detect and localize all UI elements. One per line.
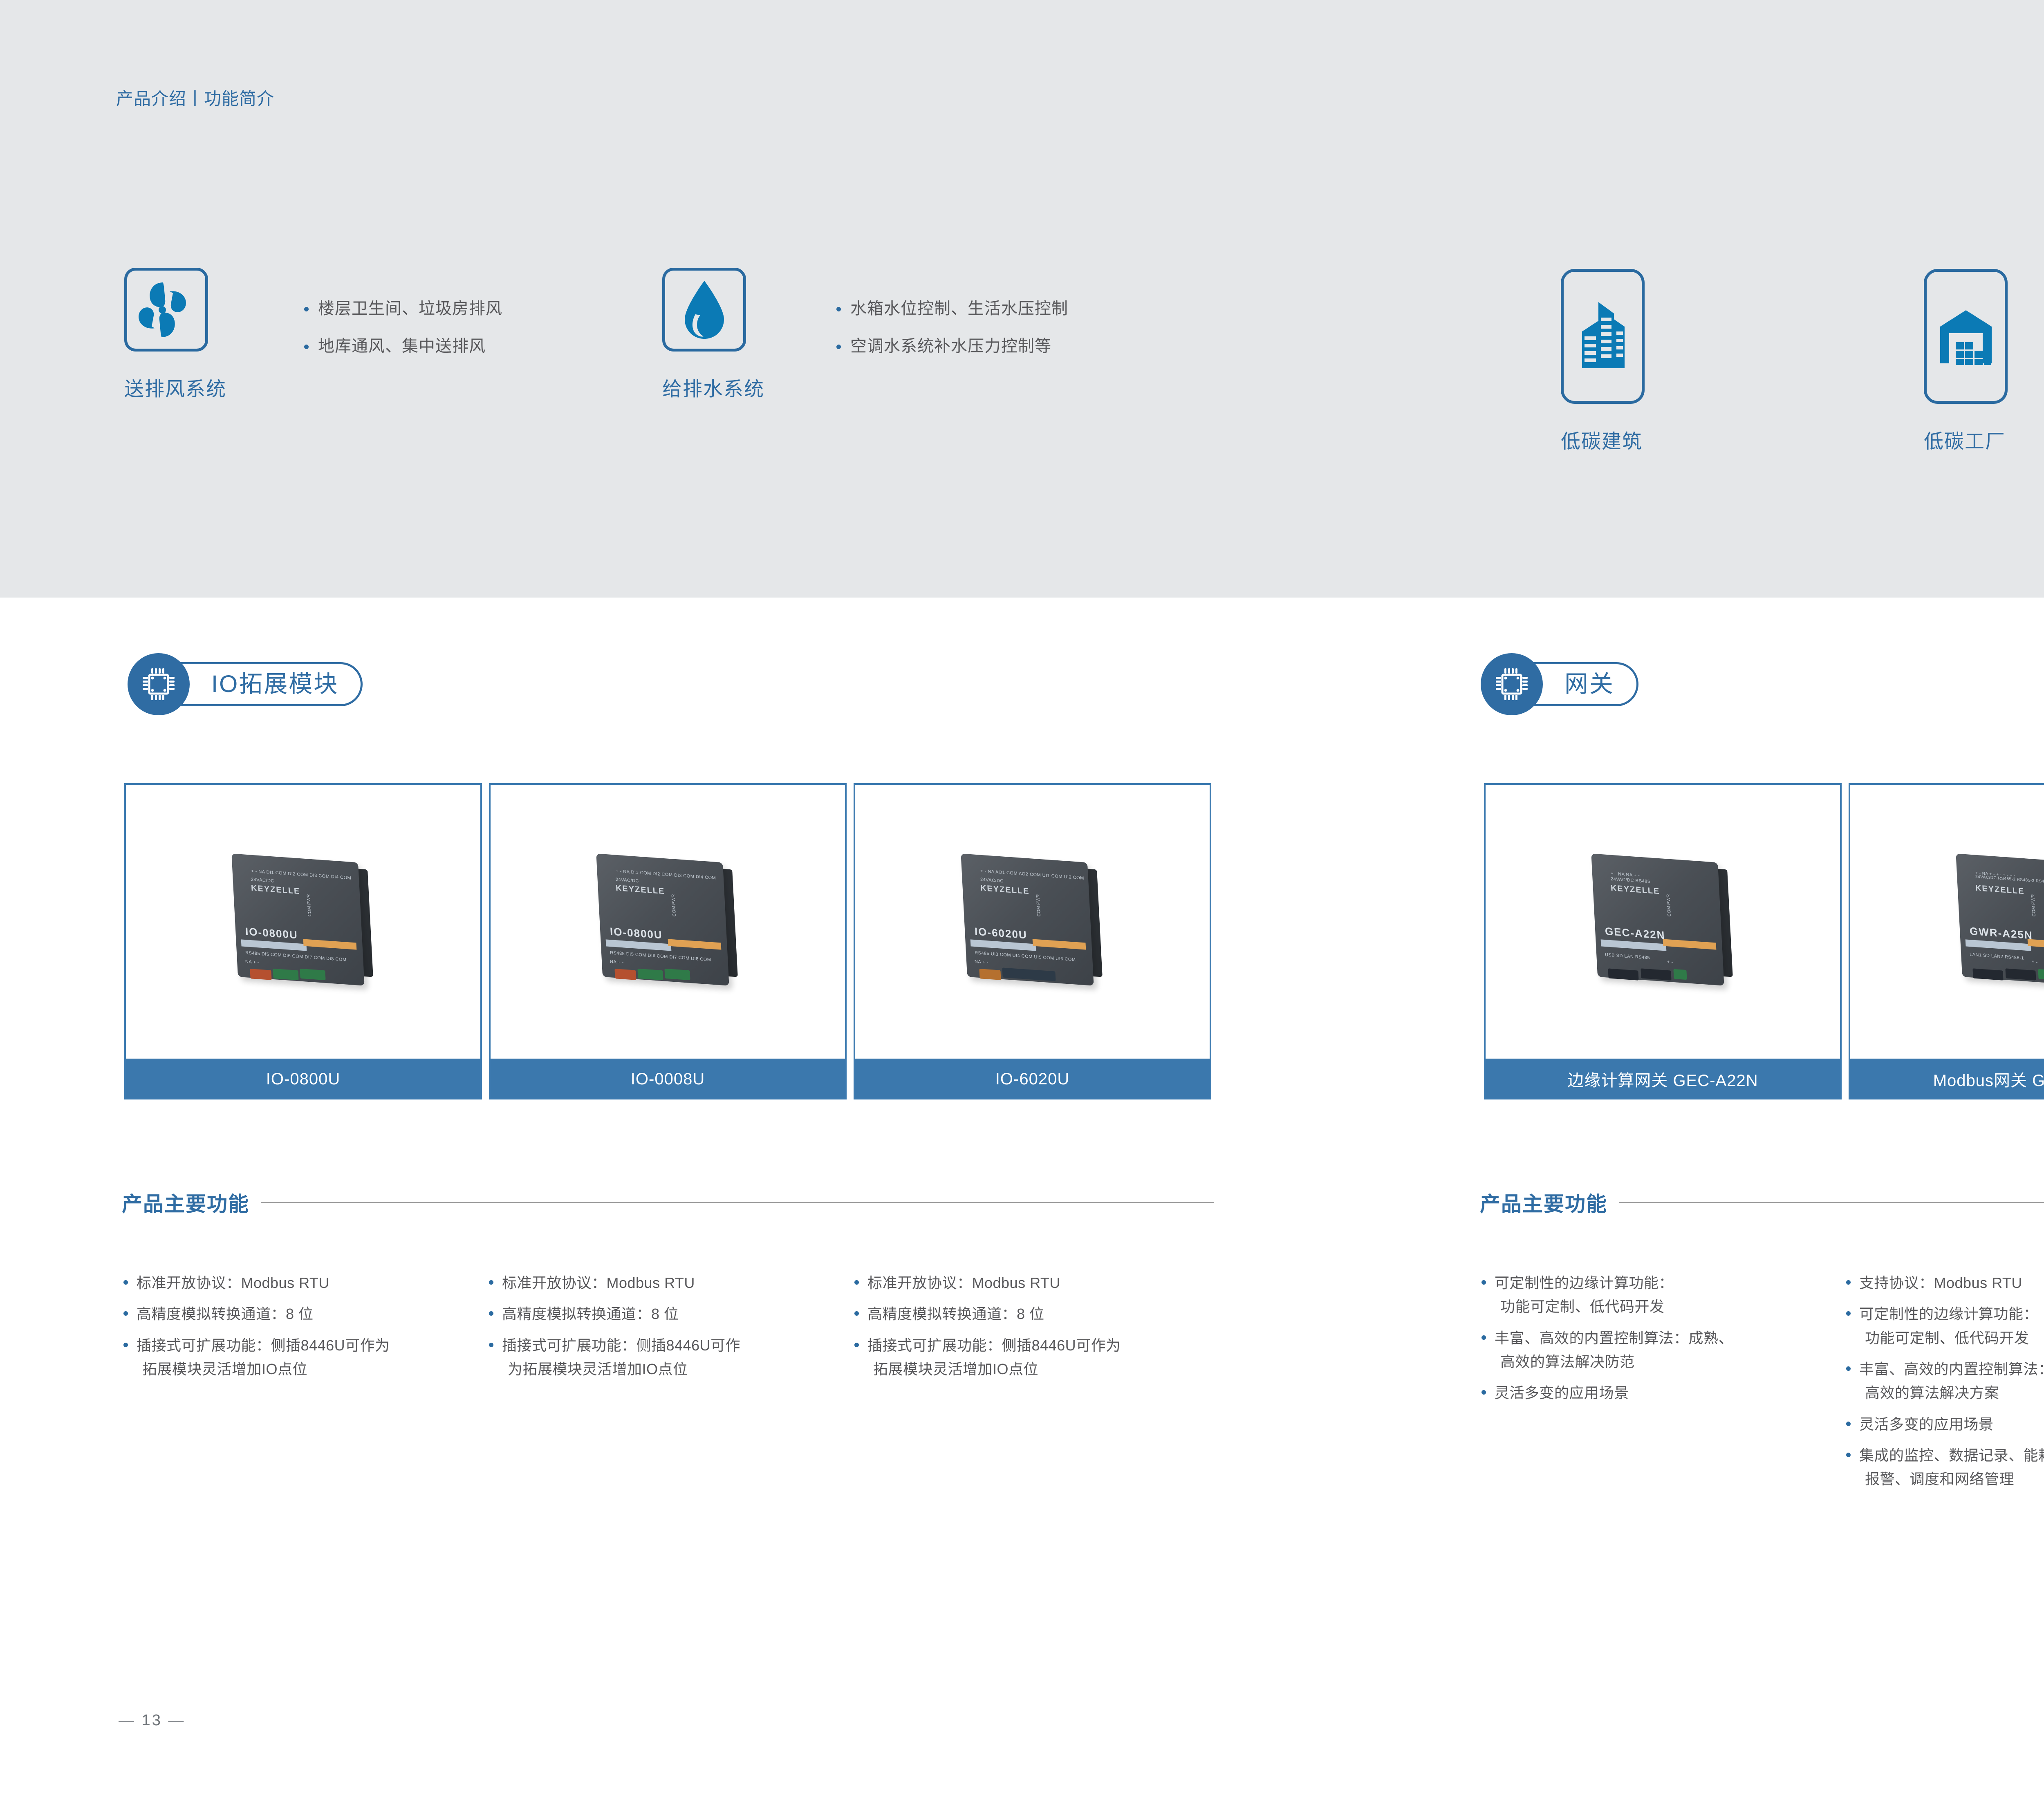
fan-icon-frame	[124, 268, 208, 352]
features-heading-gateways: 产品主要功能	[1480, 1188, 2044, 1217]
product-photo: + - NA DI1 COM DI2 COM DI3 COM DI4 COM 2…	[126, 785, 480, 1059]
product-name-bar: IO-6020U	[855, 1059, 1210, 1099]
connector-orange	[979, 969, 1001, 980]
connector-green	[664, 969, 690, 980]
chip-icon	[141, 667, 176, 702]
feature-text-continued: 高效的算法解决防范	[1495, 1350, 1823, 1374]
feature-text-continued: 功能可定制、低代码开发	[1495, 1295, 1823, 1319]
feature-item: 可定制性的边缘计算功能： 功能可定制、低代码开发	[1845, 1302, 2044, 1350]
feature-text: 丰富、高效的内置控制算法：成熟、	[1859, 1361, 2044, 1377]
chip-icon	[1494, 667, 1529, 702]
led-labels: COM PWR	[1666, 894, 1672, 917]
feature-text: 插接式可扩展功能：侧插8446U可作为	[137, 1337, 390, 1354]
feature-text: 插接式可扩展功能：侧插8446U可作	[502, 1337, 740, 1354]
connector-green	[637, 969, 663, 980]
section-title: IO拓展模块	[211, 672, 338, 696]
bullet-item: 水箱水位控制、生活水压控制	[834, 300, 1068, 317]
product-name-bar: 边缘计算网关 GEC-A22N	[1486, 1059, 1840, 1099]
connector-orange	[614, 969, 636, 980]
application-low-carbon-building: 低碳建筑	[1561, 269, 1645, 454]
heading-rule	[261, 1202, 1214, 1203]
application-fan-system: 送排风系统	[124, 268, 226, 401]
application-low-carbon-factory: 低碳工厂	[1924, 269, 2008, 454]
warehouse-factory-icon	[1939, 308, 1992, 365]
product-card-gwr-a25n[interactable]: + - NA + - + - + - + - 24VAC/DC RS485-2 …	[1849, 783, 2044, 1099]
product-name-bar: IO-0008U	[491, 1059, 845, 1099]
product-card-io-6020u[interactable]: + - NA AO1 COM AO2 COM UI1 COM UI2 COM 2…	[854, 783, 1211, 1099]
features-column-io-0008u: 标准开放协议：Modbus RTU 高精度模拟转换通道：8 位 插接式可扩展功能…	[487, 1271, 839, 1388]
feature-item: 插接式可扩展功能：侧插8446U可作为 拓展模块灵活增加IO点位	[122, 1334, 473, 1382]
feature-text-continued: 为拓展模块灵活增加IO点位	[502, 1357, 839, 1381]
chip-icon-circle	[128, 653, 190, 715]
feature-item: 插接式可扩展功能：侧插8446U可作为 拓展模块灵活增加IO点位	[853, 1334, 1213, 1382]
connector-green	[1673, 969, 1687, 980]
led-labels: COM PWR	[1035, 894, 1042, 917]
top-background-band	[0, 0, 2044, 598]
feature-item: 支持协议：Modbus RTU	[1845, 1271, 2044, 1295]
product-name-bar: IO-0800U	[126, 1059, 480, 1099]
terminal-rs485-bottom: NA + -	[610, 959, 623, 965]
connector-green	[2038, 969, 2044, 980]
application-caption: 送排风系统	[124, 373, 226, 401]
terminal-rs485-bottom: NA + -	[245, 959, 259, 965]
feature-item: 灵活多变的应用场景	[1480, 1381, 1823, 1405]
feature-text: 可定制性的边缘计算功能：	[1859, 1305, 2038, 1322]
feature-text: 可定制性的边缘计算功能：	[1495, 1274, 1674, 1291]
product-card-io-0800u[interactable]: + - NA DI1 COM DI2 COM DI3 COM DI4 COM 2…	[124, 783, 482, 1099]
features-heading-io: 产品主要功能	[122, 1188, 1214, 1217]
product-photo: + - NA DI1 COM DI2 COM DI3 COM DI4 COM 2…	[491, 785, 845, 1059]
feature-text: 集成的监控、数据记录、能耗计量、	[1859, 1447, 2044, 1464]
bullet-item: 楼层卫生间、垃圾房排风	[302, 300, 502, 317]
product-card-gec-a22n[interactable]: + - NA NA + - 24VAC/DC RS485 KEYZELLE CO…	[1484, 783, 1842, 1099]
application-water-system: 给排水系统	[662, 268, 764, 401]
feature-item: 标准开放协议：Modbus RTU	[487, 1271, 839, 1295]
device-illustration: + - NA DI1 COM DI2 COM DI3 COM DI4 COM 2…	[592, 854, 744, 989]
feature-item: 高精度模拟转换通道：8 位	[122, 1302, 473, 1326]
device-illustration: + - NA DI1 COM DI2 COM DI3 COM DI4 COM 2…	[227, 854, 379, 989]
application-caption: 低碳工厂	[1924, 425, 2008, 454]
heading-rule	[1619, 1202, 2044, 1203]
product-photo: + - NA + - + - + - + - 24VAC/DC RS485-2 …	[1850, 785, 2044, 1059]
feature-item: 丰富、高效的内置控制算法：成熟、 高效的算法解决方案	[1845, 1357, 2044, 1405]
feature-text-continued: 报警、调度和网络管理	[1859, 1467, 2044, 1491]
terminal-rs485-bottom: + -	[1667, 959, 1673, 965]
connector-green	[300, 969, 325, 980]
feature-item: 标准开放协议：Modbus RTU	[122, 1271, 473, 1295]
office-building-icon	[1579, 296, 1627, 377]
section-header-io-modules: IO拓展模块	[128, 653, 363, 715]
connector-port	[1972, 968, 2003, 980]
features-column-gec-a22n: 可定制性的边缘计算功能： 功能可定制、低代码开发 丰富、高效的内置控制算法：成熟…	[1480, 1271, 1823, 1413]
product-photo: + - NA AO1 COM AO2 COM UI1 COM UI2 COM 2…	[855, 785, 1210, 1059]
bullet-item: 空调水系统补水压力控制等	[834, 338, 1068, 354]
product-card-io-0008u[interactable]: + - NA DI1 COM DI2 COM DI3 COM DI4 COM 2…	[489, 783, 847, 1099]
feature-item: 丰富、高效的内置控制算法：成熟、 高效的算法解决防范	[1480, 1326, 1823, 1374]
feature-item: 可定制性的边缘计算功能： 功能可定制、低代码开发	[1480, 1271, 1823, 1319]
water-drop-icon-frame	[662, 268, 746, 352]
connector-orange	[250, 969, 271, 980]
page-number-left: — 13 —	[119, 1712, 185, 1729]
feature-text-continued: 功能可定制、低代码开发	[1859, 1326, 2044, 1350]
device-illustration: + - NA NA + - 24VAC/DC RS485 KEYZELLE CO…	[1587, 854, 1739, 989]
led-labels: COM PWR	[671, 894, 677, 917]
feature-item: 灵活多变的应用场景	[1845, 1413, 2044, 1436]
application-caption: 低碳建筑	[1561, 425, 1645, 454]
terminal-rs485-bottom: + -	[2031, 959, 2037, 965]
connector-port	[1608, 968, 1638, 980]
feature-item: 高精度模拟转换通道：8 位	[853, 1302, 1213, 1326]
led-labels: COM PWR	[2031, 894, 2037, 917]
features-column-gwr-a25n: 支持协议：Modbus RTU 可定制性的边缘计算功能： 功能可定制、低代码开发…	[1845, 1271, 2044, 1499]
chip-icon-circle	[1481, 653, 1543, 715]
application-caption: 给排水系统	[662, 373, 764, 401]
features-title: 产品主要功能	[1480, 1188, 1607, 1217]
feature-item: 插接式可扩展功能：侧插8446U可作 为拓展模块灵活增加IO点位	[487, 1334, 839, 1382]
connector-green	[273, 969, 298, 980]
device-illustration: + - NA + - + - + - + - 24VAC/DC RS485-2 …	[1952, 854, 2044, 989]
feature-text-continued: 拓展模块灵活增加IO点位	[867, 1357, 1213, 1381]
office-building-icon-frame	[1561, 269, 1645, 404]
bullet-item: 地库通风、集中送排风	[302, 338, 502, 354]
features-title: 产品主要功能	[122, 1188, 249, 1217]
section-title: 网关	[1564, 672, 1614, 696]
fan-icon	[138, 279, 195, 340]
feature-text-continued: 拓展模块灵活增加IO点位	[137, 1357, 473, 1381]
feature-item: 高精度模拟转换通道：8 位	[487, 1302, 839, 1326]
running-head-left: 产品介绍丨功能简介	[116, 85, 274, 110]
warehouse-factory-icon-frame	[1924, 269, 2008, 404]
device-illustration: + - NA AO1 COM AO2 COM UI1 COM UI2 COM 2…	[957, 854, 1109, 989]
feature-text-continued: 高效的算法解决方案	[1859, 1381, 2044, 1405]
feature-item: 集成的监控、数据记录、能耗计量、 报警、调度和网络管理	[1845, 1444, 2044, 1491]
feature-text: 丰富、高效的内置控制算法：成熟、	[1495, 1330, 1733, 1346]
feature-text: 插接式可扩展功能：侧插8446U可作为	[867, 1337, 1121, 1354]
fan-system-bullets: 楼层卫生间、垃圾房排风 地库通风、集中送排风	[302, 300, 502, 376]
section-header-gateways: 网关	[1481, 653, 1638, 715]
led-labels: COM PWR	[306, 894, 312, 917]
water-system-bullets: 水箱水位控制、生活水压控制 空调水系统补水压力控制等	[834, 300, 1068, 376]
features-column-io-0800u: 标准开放协议：Modbus RTU 高精度模拟转换通道：8 位 插接式可扩展功能…	[122, 1271, 473, 1388]
product-photo: + - NA NA + - 24VAC/DC RS485 KEYZELLE CO…	[1486, 785, 1840, 1059]
feature-item: 标准开放协议：Modbus RTU	[853, 1271, 1213, 1295]
water-drop-icon	[680, 279, 729, 340]
terminal-rs485-bottom: NA + -	[974, 959, 988, 965]
features-column-io-6020u: 标准开放协议：Modbus RTU 高精度模拟转换通道：8 位 插接式可扩展功能…	[853, 1271, 1213, 1388]
product-name-bar: Modbus网关 GWR-A25N	[1850, 1059, 2044, 1099]
